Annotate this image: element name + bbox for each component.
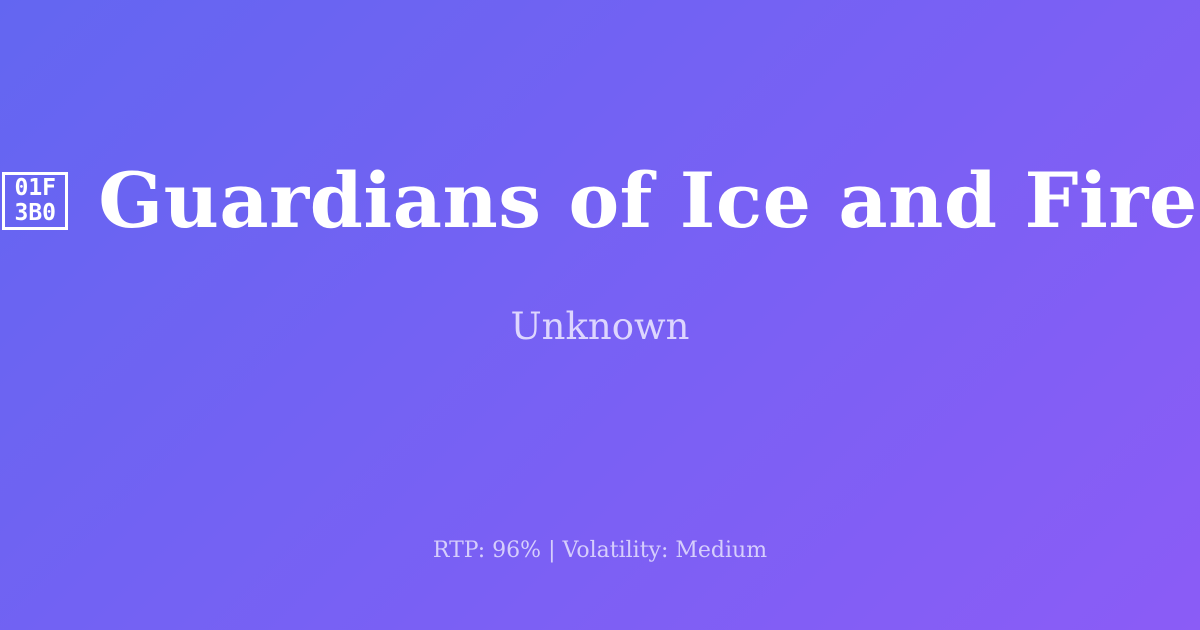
page-subtitle: Unknown: [510, 305, 689, 349]
game-meta-text: RTP: 96% | Volatility: Medium: [433, 538, 767, 564]
emoji-codepoint-row-top: 01F: [14, 176, 56, 201]
title-row: 01F 3B0 Guardians of Ice and Fire: [24, 161, 1176, 241]
emoji-codepoint-row-bottom: 3B0: [14, 201, 56, 226]
og-share-card: 01F 3B0 Guardians of Ice and Fire Unknow…: [0, 0, 1200, 630]
slot-machine-emoji-icon: 01F 3B0: [2, 172, 68, 230]
hero-section: 01F 3B0 Guardians of Ice and Fire Unknow…: [0, 0, 1200, 510]
footer-section: RTP: 96% | Volatility: Medium: [0, 538, 1200, 564]
page-title: Guardians of Ice and Fire: [98, 161, 1198, 241]
